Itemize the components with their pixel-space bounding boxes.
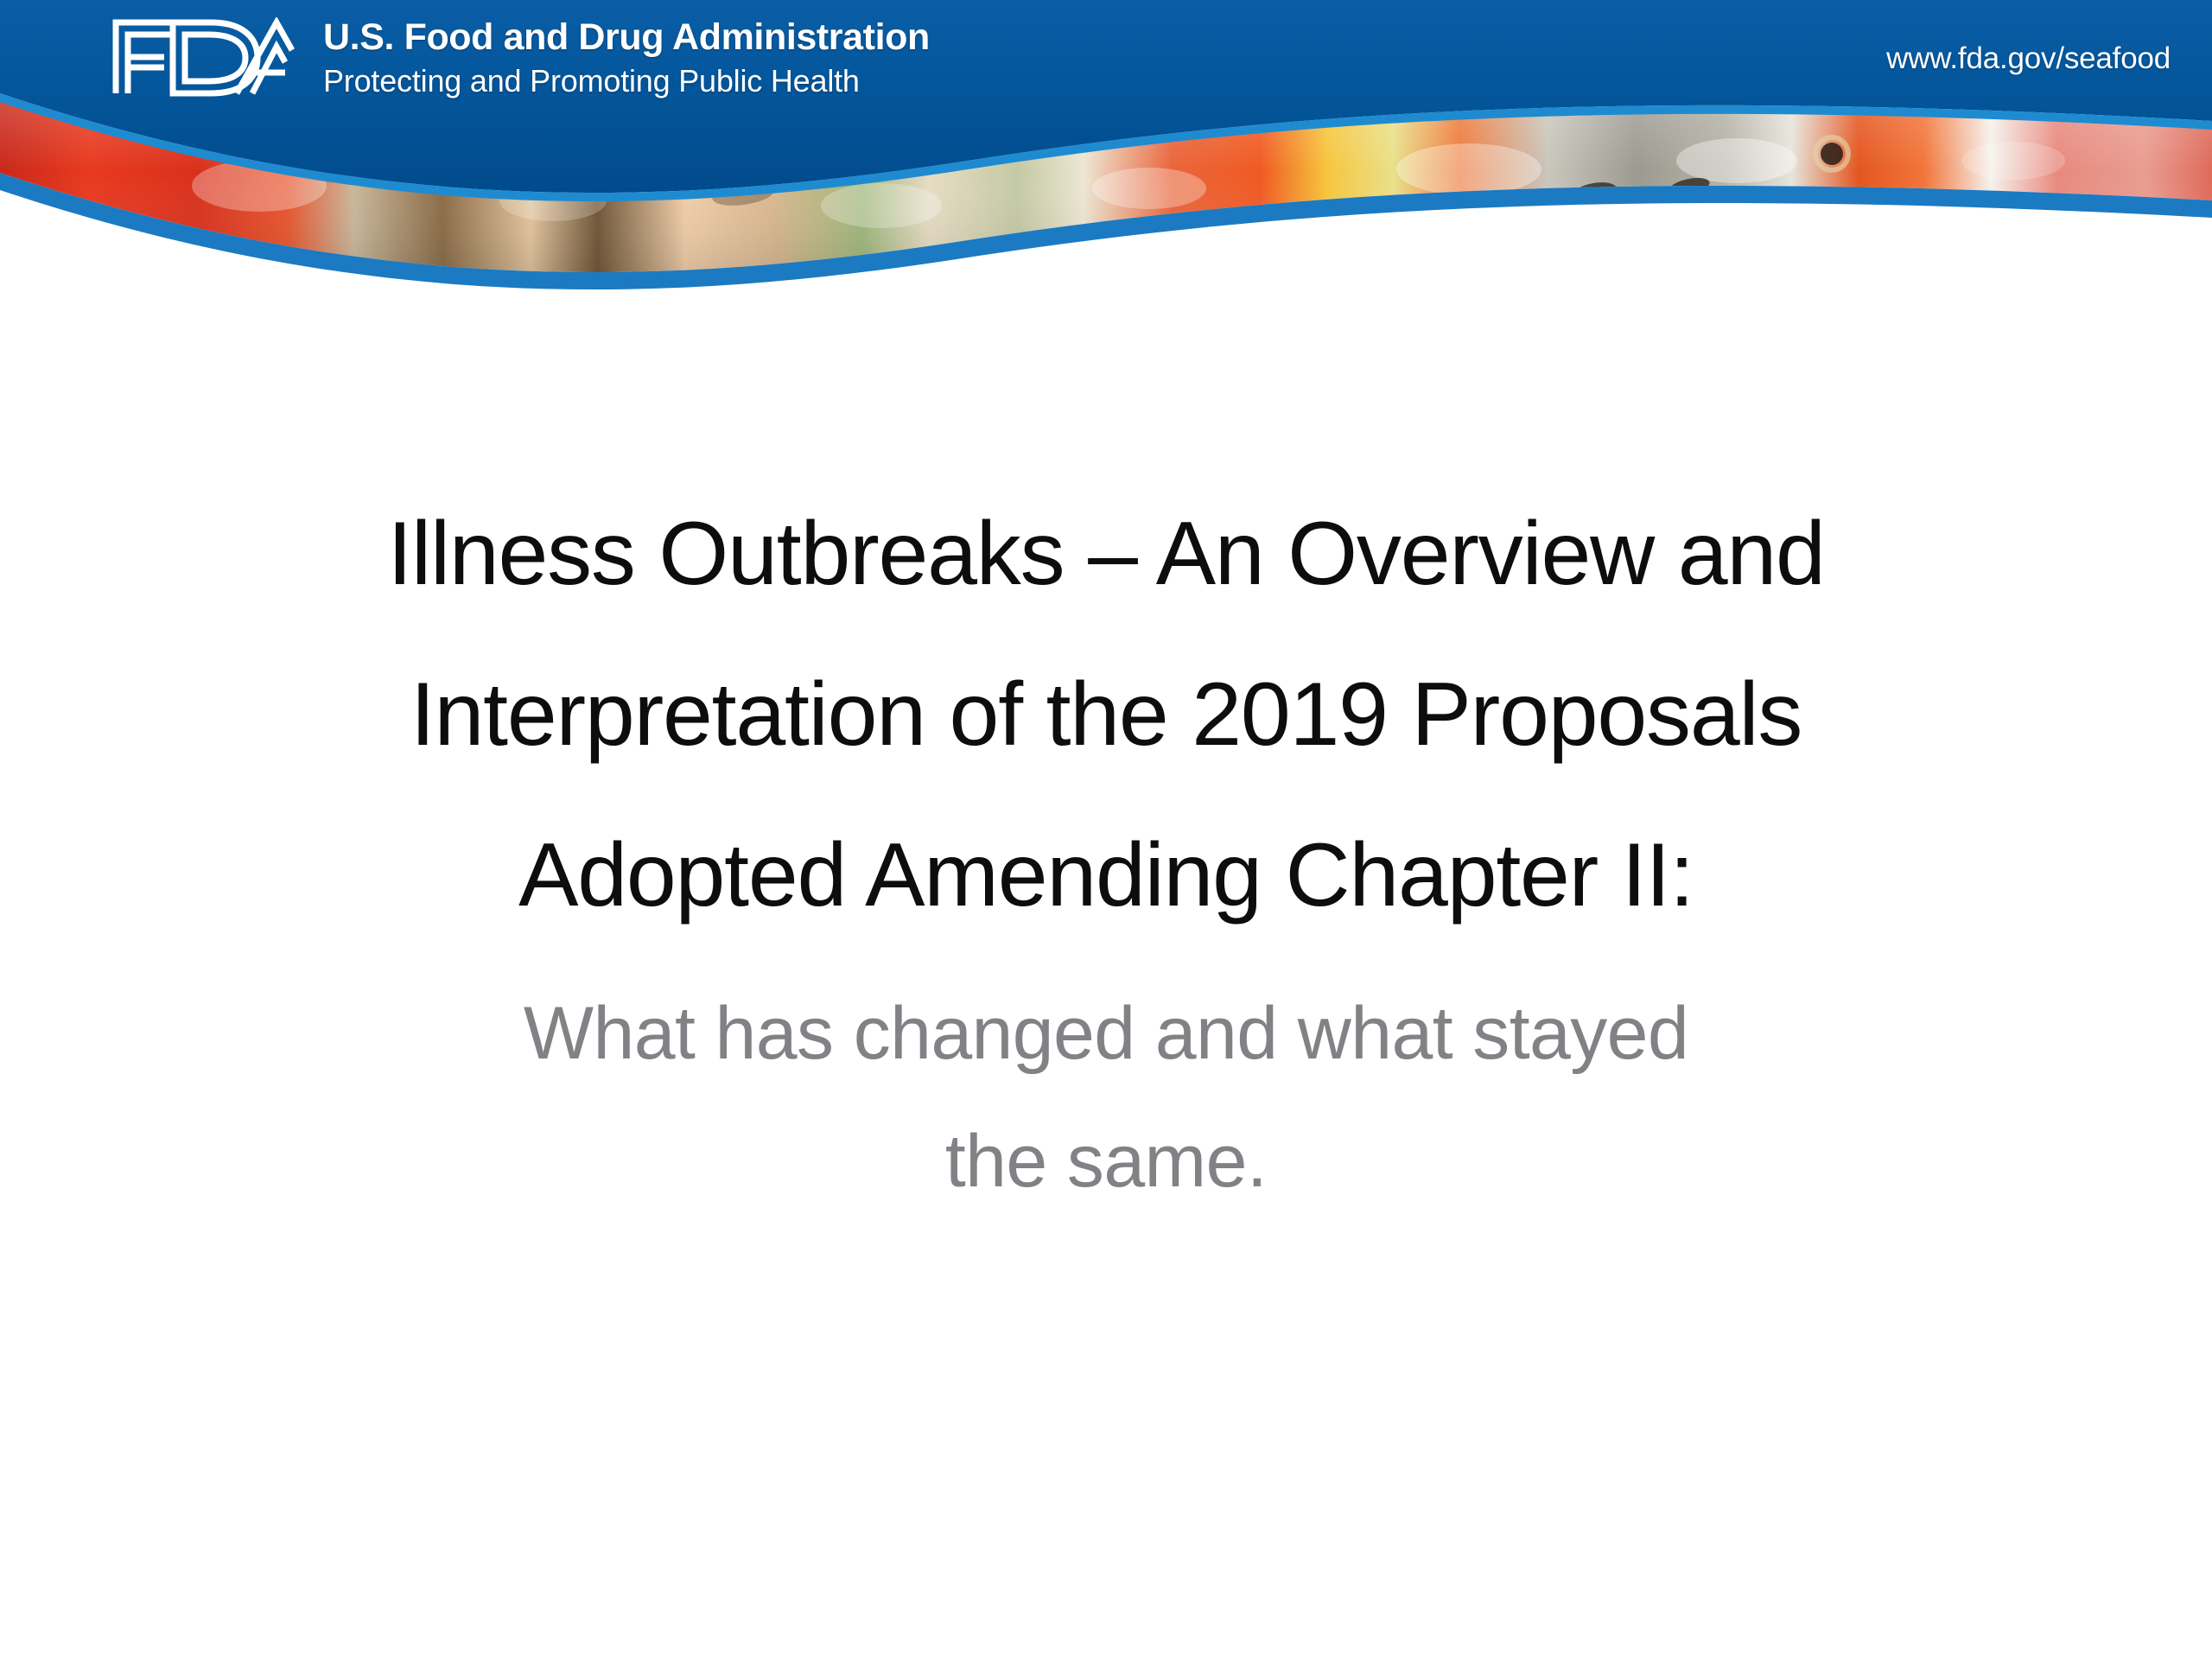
slide-title: Illness Outbreaks – An Overview and Inte… [0,474,2212,956]
agency-name: U.S. Food and Drug Administration [323,19,930,56]
fda-seafood-url[interactable]: www.fda.gov/seafood [1886,41,2171,76]
title-line-2: Interpretation of the 2019 Proposals [0,634,2212,795]
title-line-3: Adopted Amending Chapter II: [0,795,2212,956]
fda-header-banner: U.S. Food and Drug Administration Protec… [0,0,2212,294]
agency-tagline: Protecting and Promoting Public Health [323,66,930,97]
brand-text-group: U.S. Food and Drug Administration Protec… [323,14,930,97]
subtitle-line-2: the same. [0,1097,2212,1225]
subtitle-line-1: What has changed and what stayed [0,969,2212,1097]
fda-logo-icon [107,17,299,97]
title-slide: U.S. Food and Drug Administration Protec… [0,0,2212,1659]
slide-subtitle: What has changed and what stayed the sam… [0,969,2212,1225]
title-line-1: Illness Outbreaks – An Overview and [0,474,2212,634]
fda-brand-lockup: U.S. Food and Drug Administration Protec… [107,14,930,97]
